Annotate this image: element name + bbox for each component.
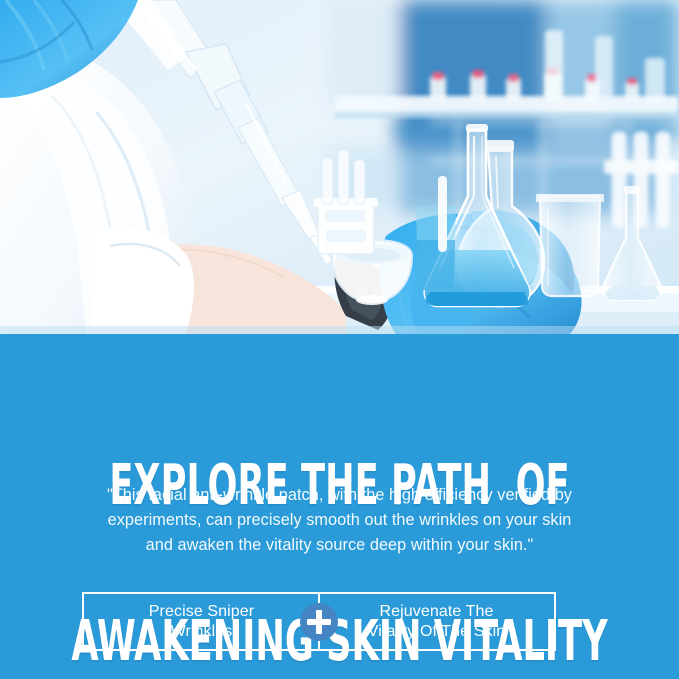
quote-line-3: and awaken the vitality source deep with… [52,533,627,558]
feature-box: Precise Sniper Wrinkles Rejuvenate The V… [82,592,556,651]
quote-line-1: "This facial anti-wrinkle patch, with th… [52,483,627,508]
plus-icon-vertical-bar [316,610,322,634]
feature-right: Rejuvenate The Vitality Of The Skin [319,602,554,642]
plus-icon [300,603,338,641]
product-banner: EXPLORE THE PATH OF AWAKENING SKIN VITAL… [0,0,679,679]
feature-right-line-1: Rejuvenate The [319,602,554,622]
feature-left-line-2: Wrinkles [84,622,319,642]
feature-right-line-2: Vitality Of The Skin [319,622,554,642]
quote-line-2: experiments, can precisely smooth out th… [52,508,627,533]
product-quote: "This facial anti-wrinkle patch, with th… [52,483,627,558]
feature-left: Precise Sniper Wrinkles [84,602,319,642]
feature-left-line-1: Precise Sniper [84,602,319,622]
lab-photo [0,0,679,334]
lab-photo-illustration [0,0,679,334]
